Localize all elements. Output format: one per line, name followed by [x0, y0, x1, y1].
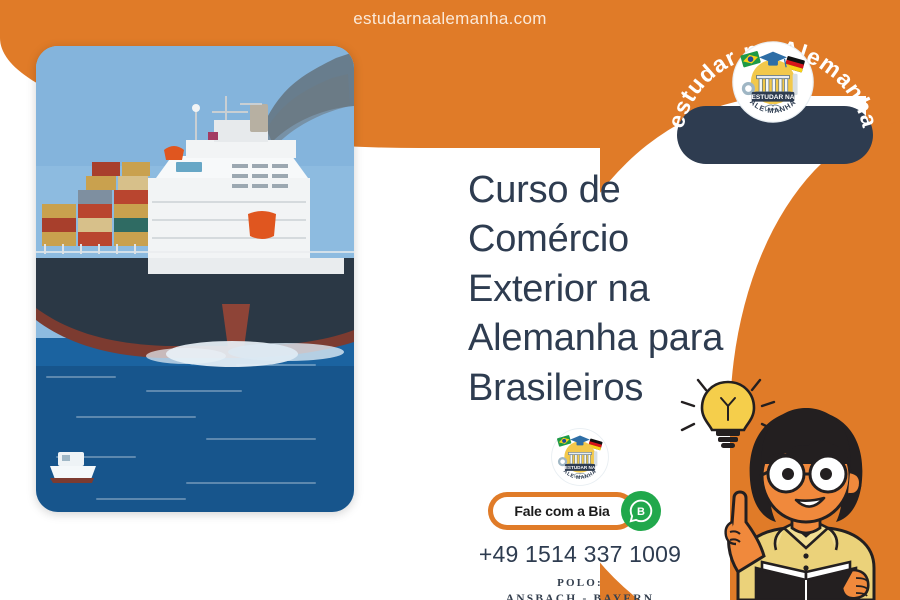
svg-text:ESTUDAR NA: ESTUDAR NA [752, 94, 795, 101]
brand-badge: estudar na Alemanha [665, 16, 880, 176]
headline-line-2: Comércio [468, 215, 798, 264]
svg-text:ESTUDAR NA: ESTUDAR NA [565, 465, 596, 470]
student-illustration [676, 372, 900, 600]
cta-label[interactable]: Fale com a Bia [493, 497, 631, 525]
whatsapp-icon[interactable]: B [621, 491, 661, 531]
phone-number[interactable]: +49 1514 337 1009 [460, 541, 700, 568]
poster-canvas: estudarnaalemanha.com estudar na Alemanh… [0, 0, 900, 600]
polo-value: ANSBACH - BAYERN [460, 593, 700, 600]
headline-line-3: Exterior na [468, 265, 798, 314]
emblem-icon-small: ESTUDAR NA ALE MANHA [551, 428, 609, 486]
svg-text:B: B [637, 506, 645, 518]
headline-line-1: Curso de [468, 166, 798, 215]
lightbulb-icon [702, 382, 754, 448]
whatsapp-cta[interactable]: Fale com a Bia B [488, 492, 672, 530]
polo-label: POLO: [460, 577, 700, 589]
ship-photo [36, 46, 354, 512]
whatsapp-bubble-glyph: B [628, 498, 654, 524]
contact-block: ESTUDAR NA ALE MANHA Fale com a Bia B +4… [460, 428, 700, 600]
emblem-icon: ESTUDAR NA ALE MANHA [732, 41, 814, 123]
headline-line-4: Alemanha para [468, 314, 798, 363]
